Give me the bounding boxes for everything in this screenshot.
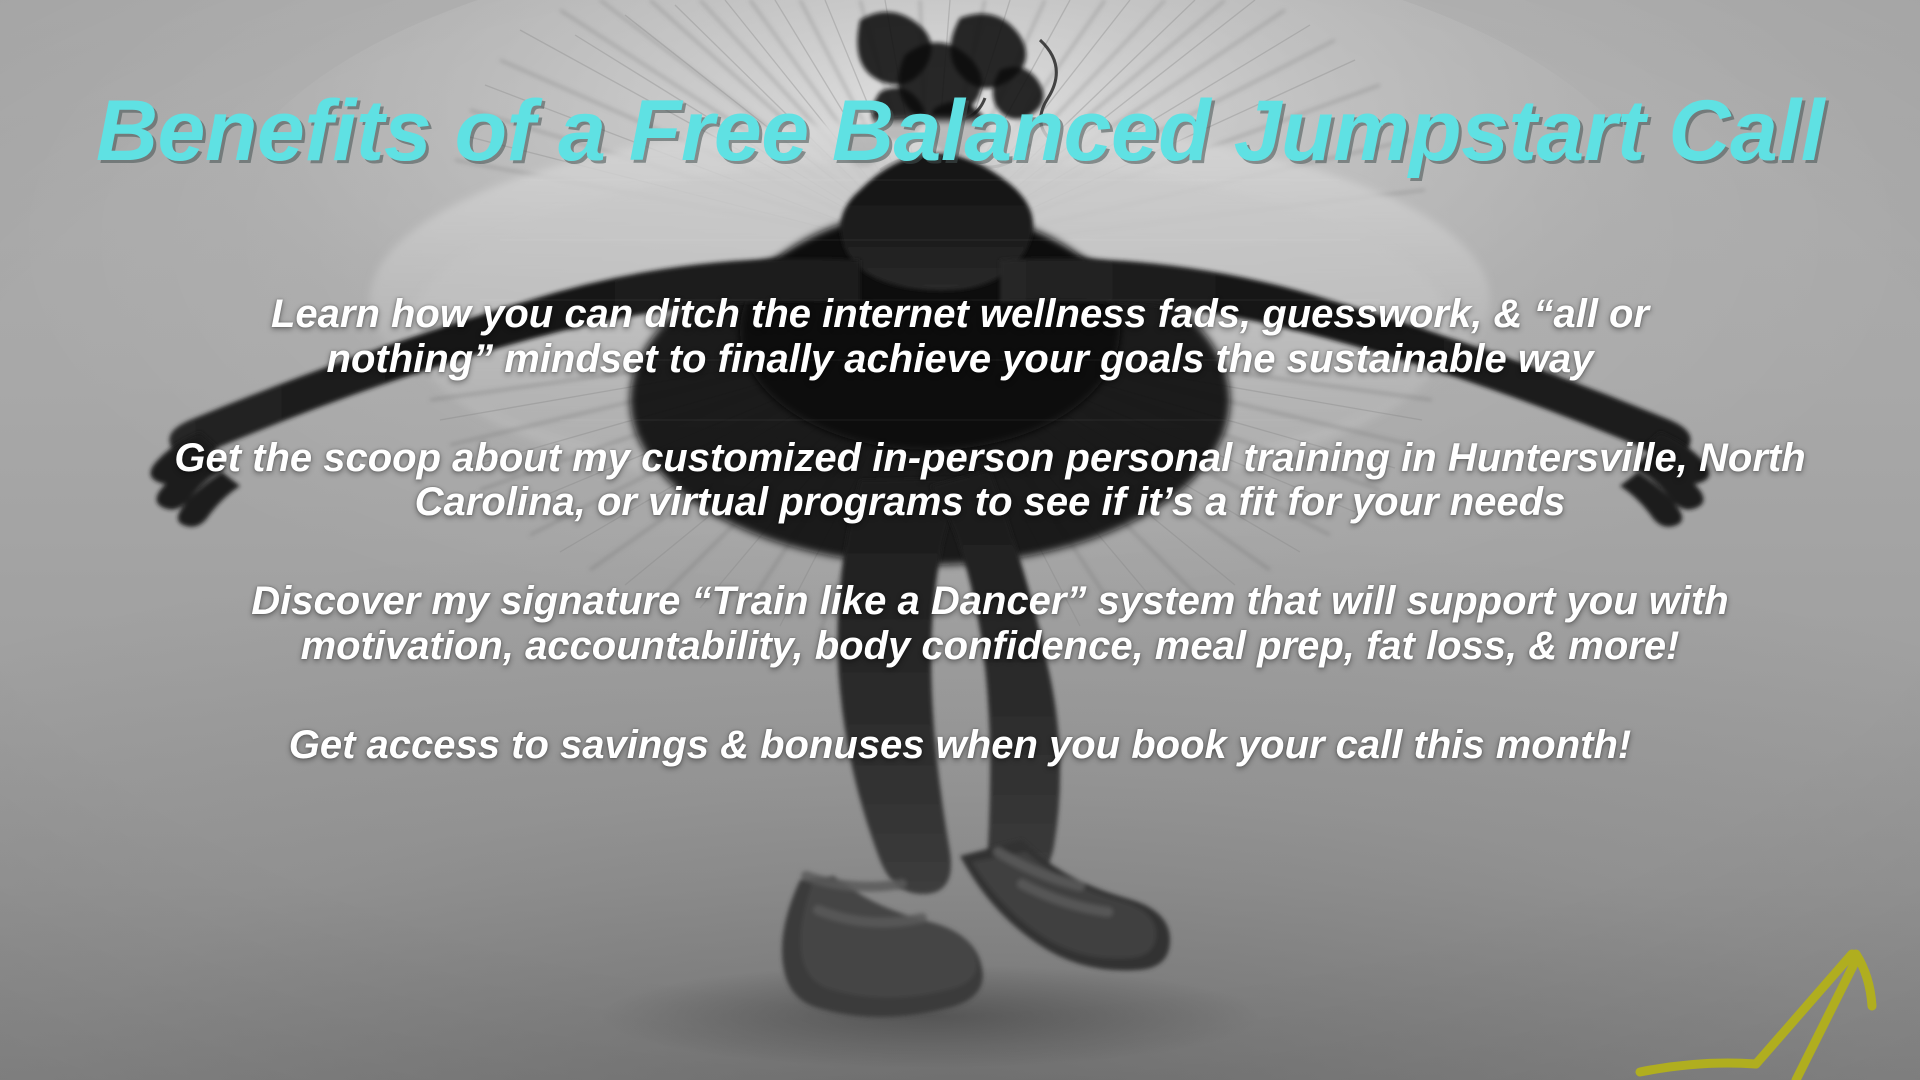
- slide-content: Benefits of a Free Balanced Jumpstart Ca…: [0, 0, 1920, 1080]
- benefit-item-2: Get the scoop about my customized in-per…: [120, 436, 1860, 526]
- presentation-slide: Benefits of a Free Balanced Jumpstart Ca…: [0, 0, 1920, 1080]
- benefit-item-3: Discover my signature “Train like a Danc…: [120, 579, 1860, 669]
- benefit-item-1: Learn how you can ditch the internet wel…: [180, 292, 1740, 382]
- benefit-item-4: Get access to savings & bonuses when you…: [180, 723, 1740, 768]
- page-title: Benefits of a Free Balanced Jumpstart Ca…: [30, 88, 1890, 174]
- benefits-list: Learn how you can ditch the internet wel…: [180, 292, 1740, 768]
